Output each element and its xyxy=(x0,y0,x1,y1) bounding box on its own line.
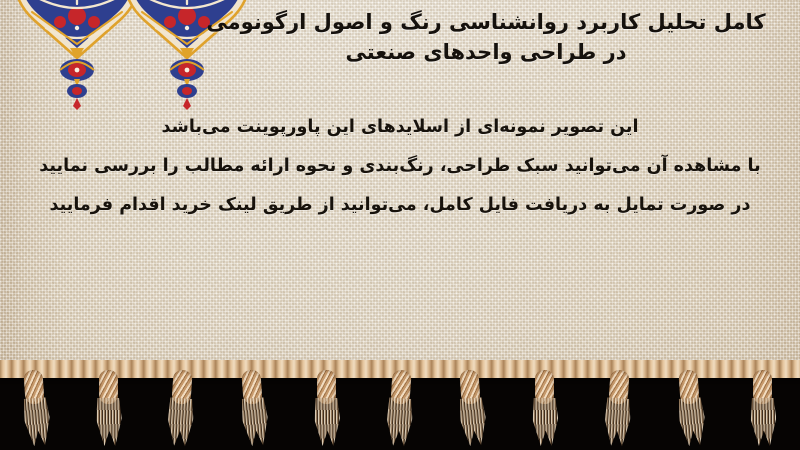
tassel-skirt xyxy=(676,397,706,447)
tassel-skirt xyxy=(601,397,631,447)
slide-body-line-2: با مشاهده آن می‌توانید سبک طراحی، رنگ‌بن… xyxy=(28,147,772,186)
slide-title-line-2: در طراحی واحدهای صنعتی xyxy=(186,38,786,68)
ornament-drop xyxy=(60,59,94,110)
slide-body-line-1: این تصویر نمونه‌ای از اسلایدهای این پاور… xyxy=(28,108,772,147)
tassel xyxy=(527,370,561,448)
tassel xyxy=(597,369,636,449)
tassel-skirt xyxy=(458,397,488,447)
tassel-skirt xyxy=(749,398,776,446)
carpet-fringe xyxy=(0,360,800,450)
tassel-skirt xyxy=(383,397,413,447)
tassel xyxy=(309,370,343,448)
slide-body: این تصویر نمونه‌ای از اسلایدهای این پاور… xyxy=(28,108,772,225)
tassel xyxy=(379,369,418,449)
tassel xyxy=(745,370,779,448)
tassel xyxy=(15,369,54,449)
slide-body-line-3: در صورت تمایل به دریافت فایل کامل، می‌تو… xyxy=(28,186,772,225)
tassel-skirt xyxy=(165,397,195,447)
tassel xyxy=(161,369,200,449)
tassel xyxy=(452,369,491,449)
tassel-skirt xyxy=(531,398,558,446)
tassel-skirt xyxy=(21,397,51,447)
slide-canvas: کامل تحلیل کاربرد روانشناسی رنگ و اصول ا… xyxy=(0,0,800,450)
tassel-skirt xyxy=(313,398,340,446)
slide-title-line-1: کامل تحلیل کاربرد روانشناسی رنگ و اصول ا… xyxy=(186,8,786,38)
tassel-skirt xyxy=(239,397,269,447)
tassel-skirt xyxy=(95,398,122,446)
tassel xyxy=(670,369,709,449)
tassel xyxy=(91,370,125,448)
tassel xyxy=(233,369,272,449)
slide-title: کامل تحلیل کاربرد روانشناسی رنگ و اصول ا… xyxy=(186,8,786,68)
